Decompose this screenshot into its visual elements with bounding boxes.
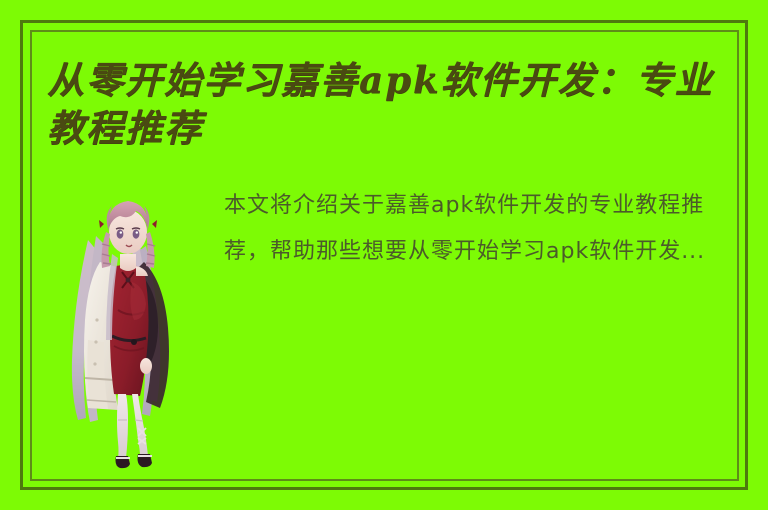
- eye-left: [117, 229, 124, 238]
- article-summary: 本文将介绍关于嘉善apk软件开发的专业教程推荐，帮助那些想要从零开始学习apk软…: [224, 183, 739, 275]
- eye-right: [133, 229, 140, 238]
- anime-girl-character-illustration: [52, 170, 184, 470]
- dress: [110, 265, 149, 396]
- braid-left: [102, 232, 111, 268]
- shoes: [116, 454, 153, 468]
- page-title: 从零开始学习嘉善apk软件开发：专业教程推荐: [47, 56, 737, 152]
- article-cover-banner: 从零开始学习嘉善apk软件开发：专业教程推荐 本文将介绍关于嘉善apk软件开发的…: [0, 0, 768, 510]
- right-hand: [140, 358, 152, 374]
- neck: [120, 254, 136, 271]
